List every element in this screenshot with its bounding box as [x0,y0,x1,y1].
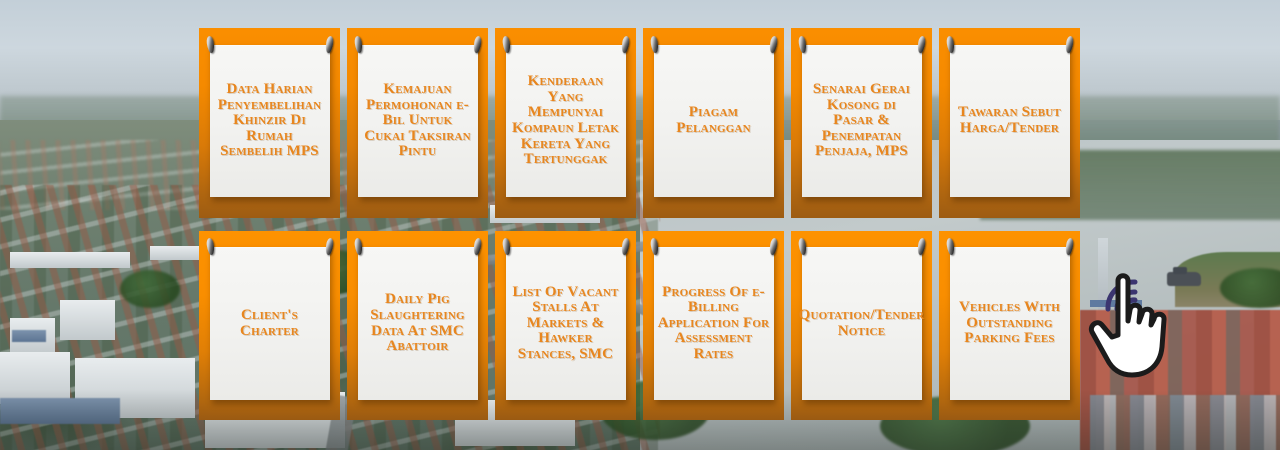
service-card[interactable]: Kenderaan Yang Mempunyai Kompaun Letak K… [506,45,626,197]
pin-icon [205,36,214,54]
pin-icon [945,238,954,256]
building [10,252,130,268]
pin-icon [620,36,629,54]
port-crane-arm [1090,300,1142,307]
service-card-title: Vehicles With Outstanding Parking Fees [950,300,1070,347]
service-panel[interactable]: Daily Pig Slaughtering Data At SMC Abatt… [347,231,488,420]
pin-icon [945,36,954,54]
service-card-title: Daily Pig Slaughtering Data At SMC Abatt… [358,292,478,354]
service-card[interactable]: Client's Charter [210,247,330,400]
service-card-title: Progress Of e-Billing Application For As… [654,285,774,363]
pin-icon [620,238,629,256]
pin-icon [797,238,806,256]
pin-icon [501,36,510,54]
service-panel[interactable]: Client's Charter [199,231,340,420]
building [60,300,115,340]
service-card-title: Piagam Pelanggan [654,105,774,136]
service-card[interactable]: Vehicles With Outstanding Parking Fees [950,247,1070,400]
pin-icon [768,36,777,54]
pin-icon [768,238,777,256]
card-row-bottom: Client's Charter Daily Pig Slaughtering … [199,231,1080,420]
service-panel[interactable]: Piagam Pelanggan [643,28,784,218]
service-card[interactable]: Senarai Gerai Kosong di Pasar & Penempat… [802,45,922,197]
service-panel[interactable]: Data Harian Penyembelihan Khinzir Di Rum… [199,28,340,218]
pin-icon [205,238,214,256]
service-card-title: Data Harian Penyembelihan Khinzir Di Rum… [210,82,330,160]
pin-icon [353,238,362,256]
service-card-title: Tawaran Sebut Harga/Tender [950,105,1070,136]
service-card-title: Kemajuan Permohonan e-Bil Untuk Cukai Ta… [358,82,478,160]
service-panel[interactable]: Quotation/Tender Notice [791,231,932,420]
service-card-title: Kenderaan Yang Mempunyai Kompaun Letak K… [506,74,626,168]
card-row-top: Data Harian Penyembelihan Khinzir Di Rum… [199,28,1080,218]
pin-icon [649,238,658,256]
service-card[interactable]: Kemajuan Permohonan e-Bil Untuk Cukai Ta… [358,45,478,197]
pin-icon [916,238,925,256]
pin-icon [797,36,806,54]
service-card[interactable]: List Of Vacant Stalls At Markets & Hawke… [506,247,626,400]
service-panel[interactable]: Senarai Gerai Kosong di Pasar & Penempat… [791,28,932,218]
pin-icon [472,36,481,54]
pin-icon [472,238,481,256]
service-panel[interactable]: Kenderaan Yang Mempunyai Kompaun Letak K… [495,28,636,218]
service-panel[interactable]: Kemajuan Permohonan e-Bil Untuk Cukai Ta… [347,28,488,218]
boat [1167,272,1201,286]
service-card[interactable]: Data Harian Penyembelihan Khinzir Di Rum… [210,45,330,197]
pin-icon [1064,36,1073,54]
service-card-title: Quotation/Tender Notice [795,308,929,339]
service-card[interactable]: Progress Of e-Billing Application For As… [654,247,774,400]
pin-icon [1064,238,1073,256]
pin-icon [324,238,333,256]
service-card-grid: Data Harian Penyembelihan Khinzir Di Rum… [199,28,1080,420]
tree-cluster [120,270,180,308]
service-card-title: List Of Vacant Stalls At Markets & Hawke… [506,285,626,363]
service-panel[interactable]: Tawaran Sebut Harga/Tender [939,28,1080,218]
service-card[interactable]: Tawaran Sebut Harga/Tender [950,45,1070,197]
pin-icon [501,238,510,256]
service-card[interactable]: Daily Pig Slaughtering Data At SMC Abatt… [358,247,478,400]
service-panel[interactable]: Vehicles With Outstanding Parking Fees [939,231,1080,420]
pin-icon [916,36,925,54]
service-panel[interactable]: List Of Vacant Stalls At Markets & Hawke… [495,231,636,420]
service-panel[interactable]: Progress Of e-Billing Application For As… [643,231,784,420]
blue-roof [12,330,46,342]
service-card[interactable]: Piagam Pelanggan [654,45,774,197]
service-card-title: Client's Charter [210,308,330,339]
pin-icon [353,36,362,54]
service-card-title: Senarai Gerai Kosong di Pasar & Penempat… [802,82,922,160]
pin-icon [649,36,658,54]
pin-icon [324,36,333,54]
service-card[interactable]: Quotation/Tender Notice [802,247,922,400]
